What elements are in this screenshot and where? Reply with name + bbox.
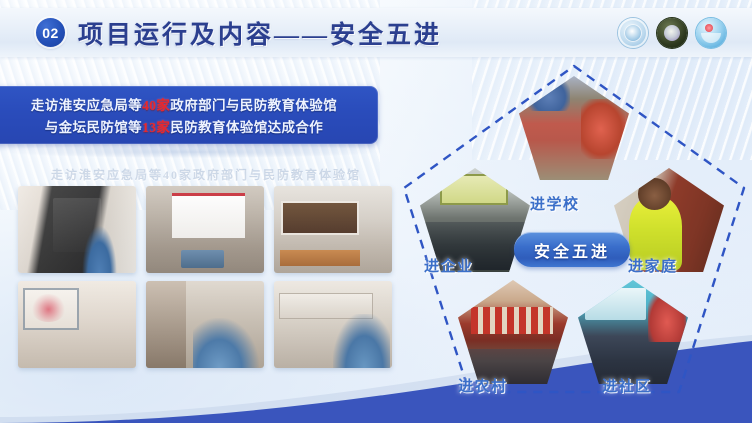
emblem-group: [618, 18, 726, 48]
photo-tint: [274, 186, 392, 273]
banner-line-2: 与金坛民防馆等13家民防教育体验馆达成合作: [45, 116, 323, 136]
photo-tint: [18, 281, 136, 368]
banner-line1-highlight: 40家: [142, 98, 170, 113]
page-title: 项目运行及内容——安全五进: [78, 15, 442, 51]
photo-touchscreen-kiosk: [18, 281, 136, 368]
highlight-banner: 走访淮安应急局等40家政府部门与民防教育体验馆 与金坛民防馆等13家民防教育体验…: [0, 86, 378, 144]
slide-canvas: 02 项目运行及内容——安全五进 走访淮安应急局等40家政府部门与民防教育体验馆…: [0, 0, 752, 423]
banner-ghost-text: 走访淮安应急局等40家政府部门与民防教育体验馆: [22, 163, 390, 185]
section-number-badge: 02: [36, 18, 65, 47]
banner-line1-suffix: 政府部门与民防教育体验馆: [170, 98, 337, 113]
photo-tint: [146, 186, 264, 273]
ghost-text-content: 走访淮安应急局等40家政府部门与民防教育体验馆: [51, 166, 361, 183]
pentagon-label-school: 进学校: [530, 193, 580, 214]
banner-line2-highlight: 13家: [142, 120, 170, 135]
header-bar: 02 项目运行及内容——安全五进: [0, 8, 752, 57]
civil-defense-emblem-icon: [657, 18, 687, 48]
banner-shadow: [6, 146, 378, 158]
photo-museum-display-case: [274, 186, 392, 273]
photo-chalkboard-wall: [18, 186, 136, 273]
pentagon-label-village: 进农村: [458, 375, 508, 396]
banner-line2-prefix: 与金坛民防馆等: [45, 120, 142, 135]
pentagon-label-family: 进家庭: [628, 255, 678, 276]
pentagon-label-community: 进社区: [602, 375, 652, 396]
pentagon-center-badge: 安全五进: [514, 232, 630, 267]
banner-line-1: 走访淮安应急局等40家政府部门与民防教育体验馆: [31, 94, 337, 114]
banner-line2-suffix: 民防教育体验馆达成合作: [170, 120, 323, 135]
photo-students-display-counter: [274, 281, 392, 368]
police-emblem-icon: [618, 18, 648, 48]
photo-grid: [18, 186, 392, 368]
photo-tint: [18, 186, 136, 273]
photo-tint: [146, 281, 264, 368]
pentagon-center-label: 安全五进: [534, 238, 610, 262]
pentagon-diagram: 进学校 进家庭 进社区 进农村 进企业 安全五进: [396, 52, 752, 423]
pentagon-label-enterprise: 进企业: [424, 255, 474, 276]
photo-tint: [274, 281, 392, 368]
banner-line1-prefix: 走访淮安应急局等: [31, 98, 142, 113]
photo-students-corridor: [146, 281, 264, 368]
blue-flower-emblem-icon: [696, 18, 726, 48]
photo-cpr-demonstration: [146, 186, 264, 273]
